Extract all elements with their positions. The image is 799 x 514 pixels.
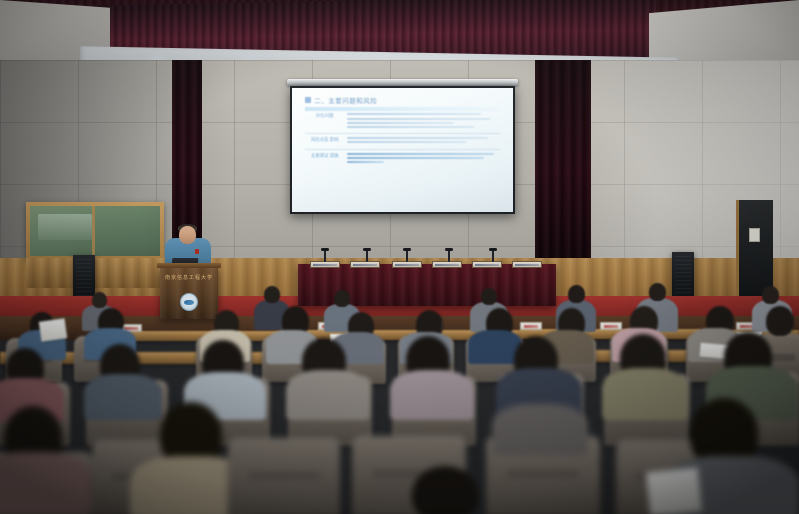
slide-table-row: 风险点及 影响 [305, 137, 499, 145]
attendee-head [412, 466, 478, 514]
slide-row-body [347, 153, 500, 166]
lecture-hall-photo: 二、主要问题和风险 存在问题 风 [0, 0, 799, 514]
control-booth-window [26, 202, 164, 260]
attendee-head [568, 285, 585, 303]
attendee-head [334, 290, 350, 307]
door-notice-sign [749, 228, 760, 242]
head-table-nameplate [350, 261, 380, 268]
table-microphone [448, 250, 450, 262]
speaking-podium: 南京信息工程大学 [160, 267, 218, 319]
attendee-paper [646, 467, 702, 514]
attendee-name-card [520, 322, 542, 330]
projector-screen-housing [287, 79, 518, 86]
head-table-nameplate [310, 261, 340, 268]
head-table-nameplate [432, 261, 462, 268]
slide-row-separator [305, 149, 499, 150]
table-microphone [366, 250, 368, 262]
booth-glass [30, 206, 160, 256]
podium-top-surface [157, 263, 221, 268]
slide-text-line [347, 153, 493, 155]
presenter-head [179, 226, 196, 244]
auditorium-seat [228, 438, 340, 514]
attendee-head [762, 286, 779, 304]
slide-row-label: 主要建议 措施 [305, 153, 344, 159]
attendee-shoulders [286, 370, 370, 420]
head-table-nameplate [392, 261, 422, 268]
slide-row-body [347, 113, 500, 130]
slide-text-line [347, 113, 481, 115]
podium-institution-text: 南京信息工程大学 [160, 274, 218, 281]
table-microphone [492, 250, 494, 262]
slide-text-line [347, 122, 454, 124]
slide-row-label: 存在问题 [305, 113, 344, 119]
slide-title-row: 二、主要问题和风险 [305, 95, 499, 105]
slide-title-text: 二、主要问题和风险 [314, 95, 377, 105]
slide-text-line [347, 126, 474, 128]
attendee-paper [39, 318, 68, 341]
slide-table-row: 存在问题 [305, 113, 499, 130]
slide-table-row: 主要建议 措施 [305, 153, 499, 166]
slide-title-underline [305, 107, 499, 111]
attendee-shoulders [0, 452, 92, 514]
slide-row-body [347, 137, 500, 145]
attendee-name-card [600, 322, 622, 330]
slide-text-line [347, 137, 487, 139]
slide-text-line [347, 118, 490, 120]
slide-text-line [347, 141, 466, 143]
attendee-shoulders [602, 368, 688, 420]
slide-text-line [347, 157, 484, 159]
table-microphone [324, 250, 326, 262]
slide-text-line [347, 161, 384, 163]
stage-curtain-right [535, 60, 591, 265]
slide-row-separator [305, 133, 499, 134]
attendee-shoulders [84, 374, 162, 420]
projection-screen: 二、主要问题和风险 存在问题 风 [290, 86, 515, 214]
control-booth-base [26, 258, 164, 288]
attendee-head [766, 306, 794, 336]
attendee-shoulders [492, 404, 588, 456]
attendee-head [92, 292, 107, 308]
attendee-head [649, 283, 666, 301]
attendee-head [481, 288, 497, 305]
table-microphone [406, 250, 408, 262]
screen-surface: 二、主要问题和风险 存在问题 风 [292, 88, 513, 212]
booth-reflection [38, 214, 92, 240]
attendee-shoulders [390, 370, 474, 420]
slide-row-label: 风险点及 影响 [305, 137, 344, 143]
university-emblem [180, 293, 198, 311]
slide-table: 存在问题 风险点及 影响 [305, 113, 499, 165]
presenter-badge [195, 249, 199, 254]
head-table-nameplate [472, 261, 502, 268]
slide-bullet-icon [305, 97, 311, 103]
attendee-head [264, 286, 280, 303]
head-table-nameplate [512, 261, 542, 268]
presentation-slide: 二、主要问题和风险 存在问题 风 [305, 95, 499, 200]
